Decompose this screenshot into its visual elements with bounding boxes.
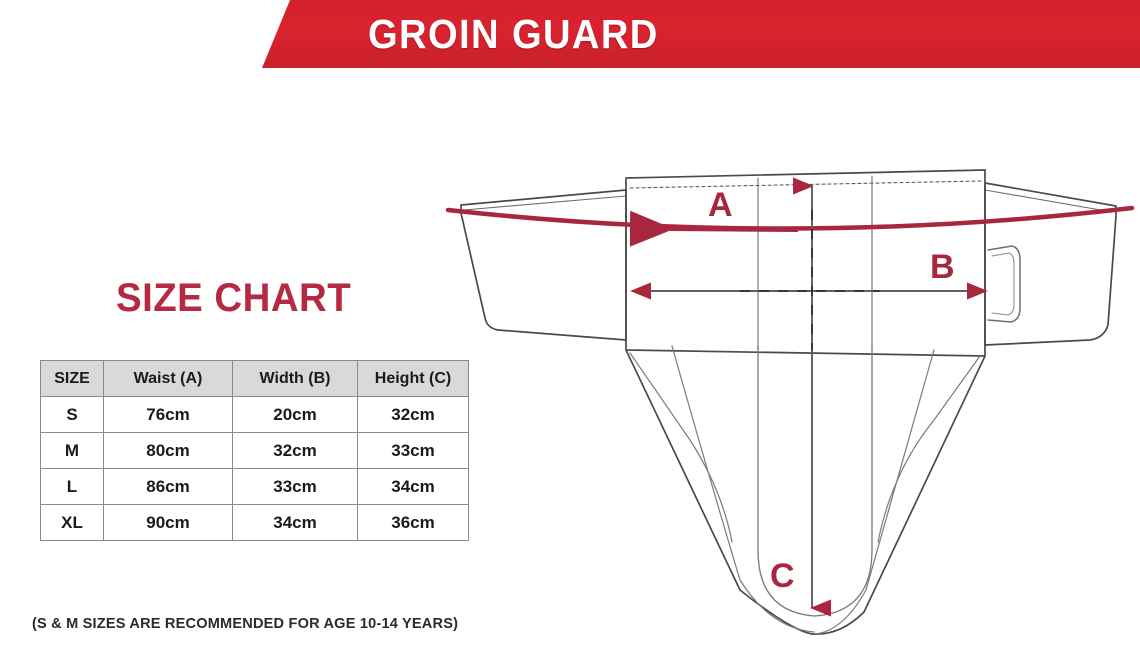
measurement-c: C	[740, 186, 880, 608]
measurement-label-c: C	[770, 557, 795, 595]
cell-size: L	[41, 469, 104, 505]
cell-width: 20cm	[233, 397, 358, 433]
table-row: M 80cm 32cm 33cm	[41, 433, 469, 469]
cell-waist: 86cm	[104, 469, 233, 505]
table-row: L 86cm 33cm 34cm	[41, 469, 469, 505]
size-recommendation-note: (S & M SIZES ARE RECOMMENDED FOR AGE 10-…	[32, 615, 458, 632]
cell-waist: 90cm	[104, 505, 233, 541]
left-panel-fold	[630, 353, 732, 542]
page-title: GROIN GUARD	[368, 8, 759, 60]
cell-waist: 80cm	[104, 433, 233, 469]
cell-size: XL	[41, 505, 104, 541]
measurement-label-a: A	[708, 186, 733, 224]
table-row: S 76cm 20cm 32cm	[41, 397, 469, 433]
size-table-container: SIZE Waist (A) Width (B) Height (C) S 76…	[40, 360, 469, 541]
column-header-waist: Waist (A)	[104, 361, 233, 397]
size-chart-heading: SIZE CHART	[116, 276, 351, 321]
cell-width: 32cm	[233, 433, 358, 469]
side-strap-loop	[988, 246, 1020, 322]
groin-guard-diagram: A B C	[440, 150, 1140, 640]
right-panel-fold	[878, 356, 980, 542]
size-chart-page: GROIN GUARD SIZE CHART SIZE Waist (A) Wi…	[0, 0, 1140, 666]
cell-size: M	[41, 433, 104, 469]
waistband-stitch	[630, 181, 981, 188]
cell-width: 33cm	[233, 469, 358, 505]
cell-size: S	[41, 397, 104, 433]
size-table: SIZE Waist (A) Width (B) Height (C) S 76…	[40, 360, 469, 541]
cell-width: 34cm	[233, 505, 358, 541]
cell-waist: 76cm	[104, 397, 233, 433]
column-header-size: SIZE	[41, 361, 104, 397]
measurement-b: B	[632, 248, 986, 291]
column-header-width: Width (B)	[233, 361, 358, 397]
pouch-body	[626, 350, 985, 634]
measurement-label-b: B	[930, 248, 955, 286]
table-row: XL 90cm 34cm 36cm	[41, 505, 469, 541]
side-strap-loop-inner	[992, 253, 1014, 315]
waist-measure-arrow	[670, 229, 798, 230]
measurement-a: A	[448, 186, 1132, 230]
waist-measure-line	[448, 208, 1132, 229]
table-header-row: SIZE Waist (A) Width (B) Height (C)	[41, 361, 469, 397]
right-inner-seam	[816, 350, 934, 634]
